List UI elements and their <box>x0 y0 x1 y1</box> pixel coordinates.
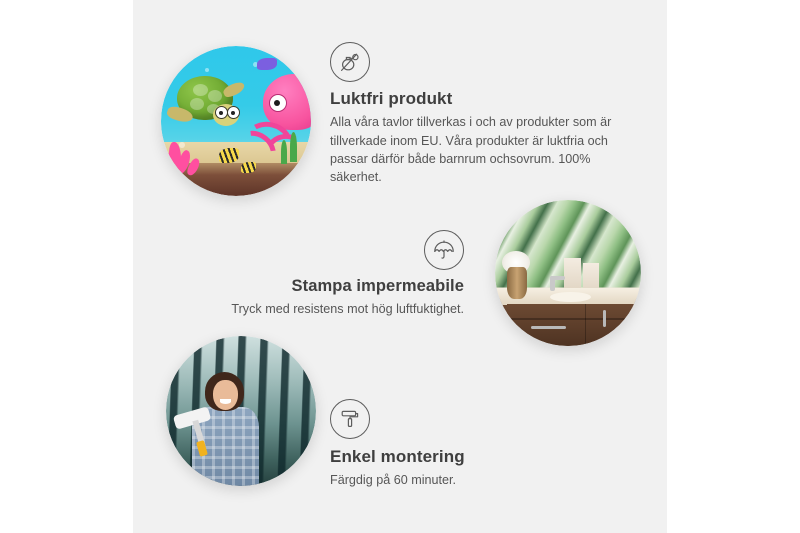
infographic-canvas: Luktfri produkt Alla våra tavlor tillver… <box>0 0 800 533</box>
feature-image-odourless <box>161 46 311 196</box>
feature-title: Stampa impermeabile <box>180 277 464 297</box>
feature-block-waterproof: Stampa impermeabile Tryck med resistens … <box>180 230 464 318</box>
feature-image-mounting <box>166 336 316 486</box>
paint-roller-icon <box>330 399 370 439</box>
no-odour-perfume-bottle-icon <box>330 42 370 82</box>
feature-block-mounting: Enkel montering Färgdig på 60 minuter. <box>330 399 620 490</box>
feature-body: Tryck med resistens mot hög luftfuktighe… <box>180 300 464 318</box>
umbrella-icon <box>424 230 464 270</box>
feature-body: Alla våra tavlor tillverkas i och av pro… <box>330 113 630 186</box>
feature-block-odourless: Luktfri produkt Alla våra tavlor tillver… <box>330 42 630 186</box>
feature-title: Luktfri produkt <box>330 89 630 109</box>
feature-title: Enkel montering <box>330 447 620 467</box>
feature-body: Färgdig på 60 minuter. <box>330 471 620 489</box>
feature-image-waterproof <box>495 200 641 346</box>
